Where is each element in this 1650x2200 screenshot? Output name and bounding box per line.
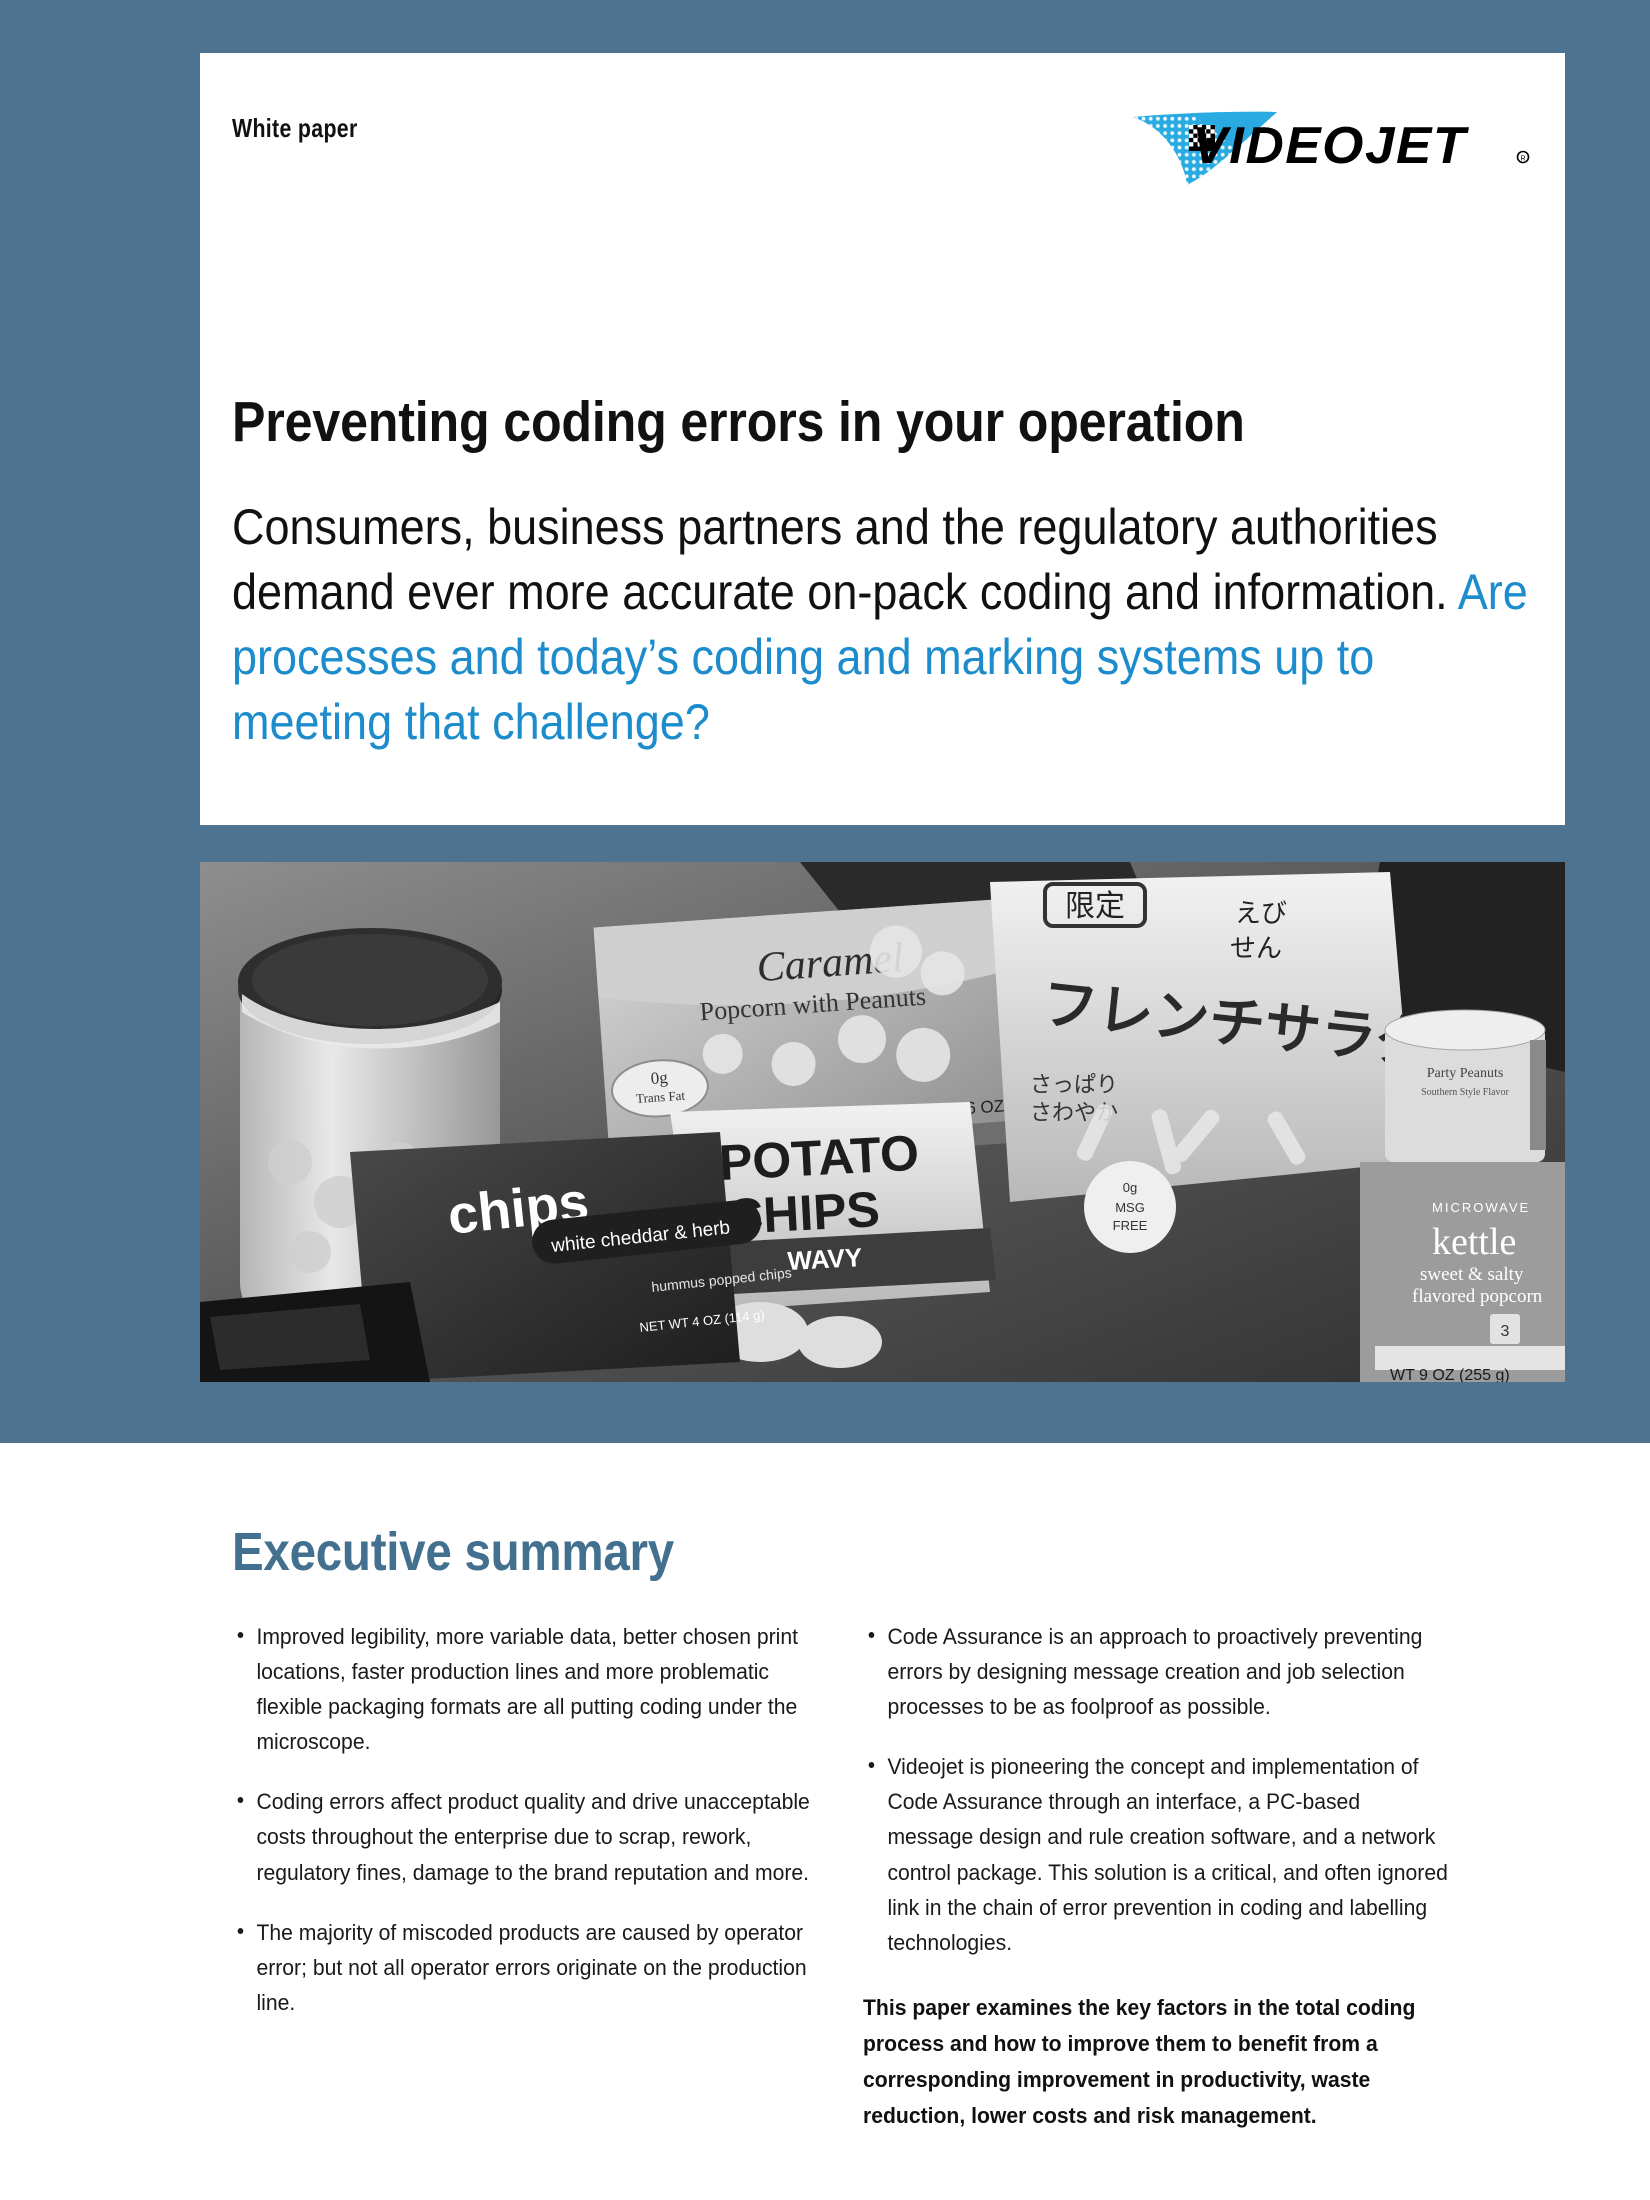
svg-text:WAVY: WAVY — [787, 1242, 863, 1276]
right-bullet-list: Code Assurance is an approach to proacti… — [863, 1619, 1452, 1960]
list-item: The majority of miscoded products are ca… — [232, 1915, 820, 2020]
header-card: White paper — [200, 53, 1565, 825]
kettle-popcorn-box: MICROWAVE kettle sweet & salty flavored … — [1360, 1162, 1565, 1382]
snack-packaging-photo: Caramel Popcorn with Peanuts 0g Trans Fa… — [200, 862, 1565, 1382]
section-heading-executive-summary: Executive summary — [232, 1521, 674, 1583]
svg-text:Party Peanuts: Party Peanuts — [1427, 1066, 1504, 1081]
svg-text:さっぱり: さっぱり — [1030, 1073, 1118, 1098]
title-block: Preventing coding errors in your operati… — [232, 393, 1537, 755]
svg-text:えび: えび — [1235, 899, 1287, 929]
summary-columns: Improved legibility, more variable data,… — [232, 1619, 1452, 2134]
executive-summary-section: Executive summary Improved legibility, m… — [0, 1443, 1650, 2200]
svg-text:flavored popcorn: flavored popcorn — [1412, 1286, 1543, 1307]
list-item: Coding errors affect product quality and… — [232, 1784, 820, 1889]
list-item: Code Assurance is an approach to proacti… — [863, 1619, 1451, 1724]
svg-text:限定: 限定 — [1065, 889, 1125, 924]
list-item: Videojet is pioneering the concept and i… — [863, 1749, 1451, 1960]
summary-right-column: Code Assurance is an approach to proacti… — [863, 1619, 1452, 2134]
svg-text:Southern Style Flavor: Southern Style Flavor — [1421, 1087, 1509, 1098]
svg-text:0g: 0g — [1123, 1180, 1137, 1195]
svg-text:FREE: FREE — [1113, 1218, 1148, 1233]
svg-text:sweet & salty: sweet & salty — [1420, 1264, 1524, 1285]
svg-text:3: 3 — [1501, 1323, 1510, 1340]
svg-text:せん: せん — [1230, 934, 1282, 964]
svg-text:MSG: MSG — [1115, 1200, 1145, 1215]
white-paper-page: White paper — [0, 0, 1650, 2200]
svg-text:R: R — [1520, 156, 1525, 163]
svg-text:POTATO: POTATO — [718, 1125, 921, 1191]
list-item: Improved legibility, more variable data,… — [232, 1619, 820, 1759]
videojet-logo: VIDEOJET R — [1127, 95, 1537, 187]
msg-free-badge: 0g MSG FREE — [1084, 1161, 1176, 1253]
closing-paragraph: This paper examines the key factors in t… — [863, 1990, 1451, 2134]
svg-text:0g: 0g — [650, 1068, 669, 1088]
svg-text:kettle: kettle — [1432, 1221, 1516, 1263]
summary-left-column: Improved legibility, more variable data,… — [232, 1619, 821, 2134]
page-subtitle: Consumers, business partners and the reg… — [232, 495, 1528, 755]
subtitle-plain-text: Consumers, business partners and the reg… — [232, 499, 1448, 620]
party-peanuts-can: Party Peanuts Southern Style Flavor — [1385, 1010, 1546, 1162]
svg-text:WT 9 OZ (255 g): WT 9 OZ (255 g) — [1390, 1367, 1510, 1382]
page-title: Preventing coding errors in your operati… — [232, 393, 1380, 451]
left-bullet-list: Improved legibility, more variable data,… — [232, 1619, 821, 2020]
white-paper-kicker: White paper — [232, 113, 358, 144]
svg-text:MICROWAVE: MICROWAVE — [1432, 1200, 1530, 1215]
svg-text:VIDEOJET: VIDEOJET — [1192, 116, 1469, 174]
